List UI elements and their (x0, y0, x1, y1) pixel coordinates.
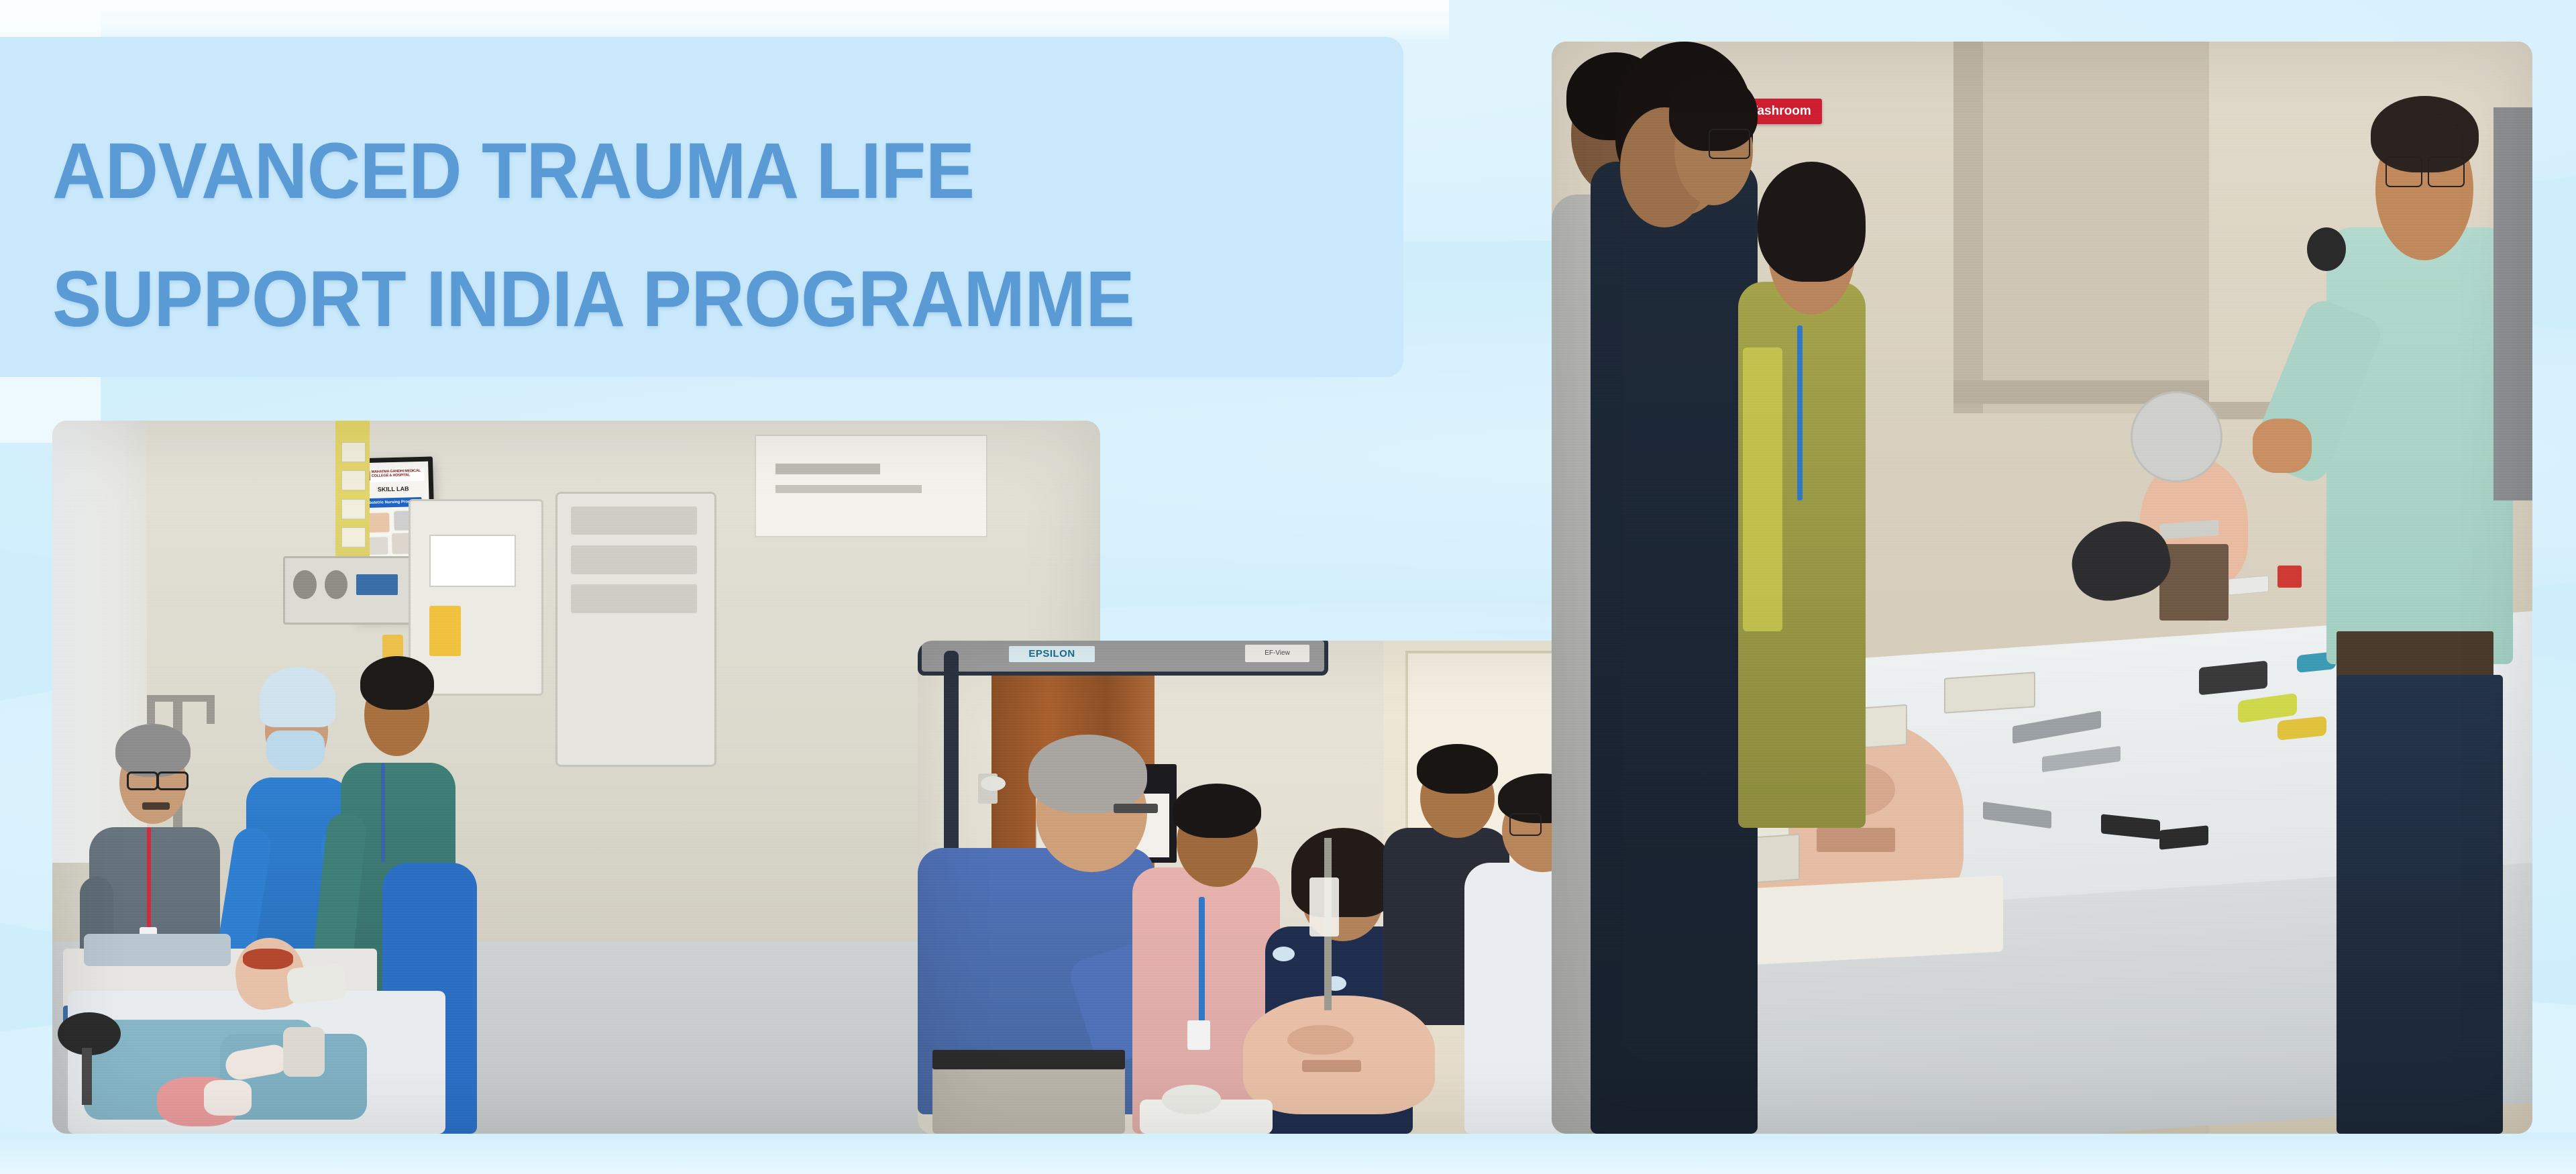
nurse-surgical-cap (260, 667, 335, 727)
participant-lanyard (1199, 897, 1205, 1025)
iv-hook (207, 695, 215, 724)
manikin-wound (243, 949, 293, 970)
airway-manikin-head (1243, 996, 1436, 1114)
audience-navy-top (1591, 162, 1758, 1134)
bed-side-rail (84, 934, 231, 966)
notice-line (775, 485, 922, 494)
iv-drip-chamber (1309, 877, 1339, 937)
instructor-trousers (932, 1065, 1125, 1134)
gas-outlet (293, 570, 316, 599)
participant-hair (1417, 744, 1498, 794)
presenter-glasses-right (2428, 156, 2465, 187)
presenter-glasses-left (2385, 156, 2422, 187)
nurse-face-mask (266, 731, 325, 769)
audience-hair (1758, 162, 1866, 282)
panel-label (356, 574, 398, 596)
iv-pole-hook-bar (147, 695, 215, 702)
manikin-mouth (1302, 1060, 1361, 1072)
pipe-label (341, 470, 366, 490)
instructor-glasses-right (157, 771, 189, 790)
manikin-near-mouth (1817, 828, 1895, 852)
photo-equipment-table-briefing: Washroom (1552, 42, 2532, 1134)
bandage (204, 1080, 251, 1116)
gas-outlet (325, 570, 347, 599)
audience-lanyard (1797, 325, 1803, 500)
scene-right: Washroom (1552, 42, 2532, 1134)
ventilator-screen (429, 535, 516, 587)
title-panel: ADVANCED TRAUMA LIFE SUPPORT INDIA PROGR… (0, 37, 1403, 377)
scene-middle: EPSILON EF-View (918, 641, 1657, 1134)
corridor-edge (1953, 42, 1983, 413)
manikin-far-base (2159, 544, 2228, 621)
dupatta (1743, 348, 1782, 631)
presenter-wristwatch (2307, 227, 2346, 271)
epsilon-brand-plate: EF-View (1245, 645, 1309, 662)
notice-line (775, 464, 880, 474)
epsilon-label-text: EPSILON (1009, 646, 1095, 662)
door-knob (981, 776, 1006, 791)
presenter-trousers (2337, 675, 2504, 1134)
pipe-label (341, 527, 366, 547)
instructor-hair (115, 724, 191, 778)
poster-hospital-name: MAHATMA GANDHI MEDICAL COLLEGE & HOSPITA… (372, 469, 423, 478)
limb-support (283, 1027, 325, 1077)
page-title-line-1: ADVANCED TRAUMA LIFE (52, 107, 1275, 235)
epsilon-label: EPSILON (1009, 646, 1095, 662)
participant-id-badge (1187, 1020, 1210, 1050)
presenter-hand (2253, 419, 2312, 473)
photo-airway-management-demonstration: EPSILON EF-View (918, 641, 1657, 1134)
oxygen-cylinder (429, 606, 461, 655)
stool-post (82, 1048, 93, 1105)
cart-drawer (571, 545, 696, 574)
iv-hook (147, 695, 155, 724)
corridor-recess (1953, 42, 2208, 413)
background-top-highlight (0, 0, 1449, 39)
participant-glasses (1509, 813, 1542, 835)
cart-drawer (571, 584, 696, 613)
syringe (2229, 575, 2269, 595)
participant-lanyard (381, 763, 385, 863)
cervical-collar (286, 963, 347, 1005)
red-cap-item (2277, 566, 2302, 588)
instructor-lanyard-strap (147, 827, 151, 934)
page-title: ADVANCED TRAUMA LIFE SUPPORT INDIA PROGR… (52, 107, 1275, 364)
instructor-hair (1028, 735, 1146, 814)
instrument-kit-pack (1944, 672, 2035, 713)
page-title-line-2: SUPPORT INDIA PROGRAMME (52, 235, 1275, 364)
instructor-glasses-left (127, 771, 158, 790)
dress-floral-dot (1273, 947, 1295, 961)
airway-tube-coil (2131, 391, 2223, 482)
instructor-belt (932, 1050, 1125, 1069)
background-person (2493, 107, 2532, 500)
instructor-moustache (142, 802, 170, 810)
pipe-label (341, 499, 366, 519)
participant-hair-bun (1291, 828, 1395, 916)
audience-glasses (1709, 129, 1750, 159)
bag-valve-mask (1162, 1085, 1221, 1114)
participant-hair (360, 656, 433, 710)
cart-drawer (571, 506, 696, 535)
epsilon-brand-text: EF-View (1245, 645, 1309, 662)
epsilon-equipment-bar: EPSILON EF-View (918, 641, 1328, 676)
ventilator-unit (409, 499, 543, 696)
presenter-shirt (2326, 227, 2513, 664)
pipe-label (341, 442, 366, 462)
background-bottom-band (0, 1132, 2576, 1174)
instructor-glasses-arm (1114, 804, 1158, 814)
participant-hair (1173, 784, 1261, 838)
